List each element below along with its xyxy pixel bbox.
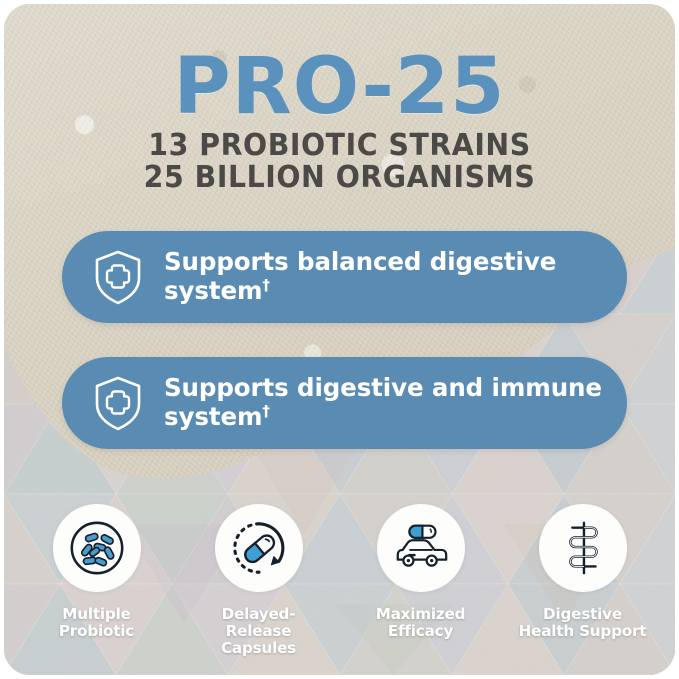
product-infographic-card: PRO-25 13 PROBIOTIC STRAINS 25 BILLION O… <box>4 4 675 675</box>
feature-label-multiple-probiotic: Multiple Probiotic <box>59 606 134 640</box>
feature-row: Multiple Probiotic Delayed-R <box>4 504 675 657</box>
feature-delayed-release-capsules: Delayed-Release Capsules <box>195 504 323 657</box>
feature-digestive-health-support: Digestive Health Support <box>519 504 647 657</box>
benefit-1-line-2: system <box>164 276 262 305</box>
feature-0-label-line-2: Probiotic <box>59 623 134 640</box>
feature-2-label-line-2: Efficacy <box>376 623 466 640</box>
feature-1-label-line-1: Delayed-Release <box>195 606 323 640</box>
benefit-pill-2-text: Supports digestive and immune system† <box>164 374 602 431</box>
bacteria-circle-icon <box>66 517 128 579</box>
benefit-pill-2: Supports digestive and immune system† <box>62 357 627 449</box>
feature-icon-circle <box>215 504 303 592</box>
benefit-2-line-2: system <box>164 402 262 431</box>
feature-3-label-line-2: Health Support <box>519 623 647 640</box>
feature-label-delayed-release-capsules: Delayed-Release Capsules <box>195 606 323 657</box>
feature-maximized-efficacy: Maximized Efficacy <box>357 504 485 657</box>
benefit-pill-1-text: Supports balanced digestive system† <box>164 248 556 305</box>
feature-multiple-probiotic: Multiple Probiotic <box>33 504 161 657</box>
benefit-1-line-1: Supports balanced digestive <box>164 247 556 276</box>
header-block: PRO-25 13 PROBIOTIC STRAINS 25 BILLION O… <box>4 50 675 193</box>
feature-label-digestive-health-support: Digestive Health Support <box>519 606 647 640</box>
page-title: PRO-25 <box>4 50 675 124</box>
car-capsule-icon <box>390 517 452 579</box>
feature-0-label-line-1: Multiple <box>59 606 134 623</box>
feature-3-label-line-1: Digestive <box>519 606 647 623</box>
benefit-1-dagger: † <box>262 276 270 294</box>
subtitle-block: 13 PROBIOTIC STRAINS 25 BILLION ORGANISM… <box>27 130 651 193</box>
feature-icon-circle <box>539 504 627 592</box>
delayed-release-capsule-icon <box>228 517 290 579</box>
feature-label-maximized-efficacy: Maximized Efficacy <box>376 606 466 640</box>
benefit-pill-1: Supports balanced digestive system† <box>62 231 627 323</box>
benefit-2-dagger: † <box>262 402 270 420</box>
subtitle-line-1: 13 PROBIOTIC STRAINS <box>27 130 651 161</box>
shield-plus-icon <box>88 247 148 307</box>
feature-icon-circle <box>53 504 141 592</box>
intestine-icon <box>552 517 614 579</box>
benefit-2-line-1: Supports digestive and immune <box>164 373 602 402</box>
feature-icon-circle <box>377 504 465 592</box>
shield-plus-icon <box>88 373 148 433</box>
subtitle-line-2: 25 BILLION ORGANISMS <box>27 162 651 193</box>
feature-1-label-line-2: Capsules <box>195 640 323 657</box>
feature-2-label-line-1: Maximized <box>376 606 466 623</box>
